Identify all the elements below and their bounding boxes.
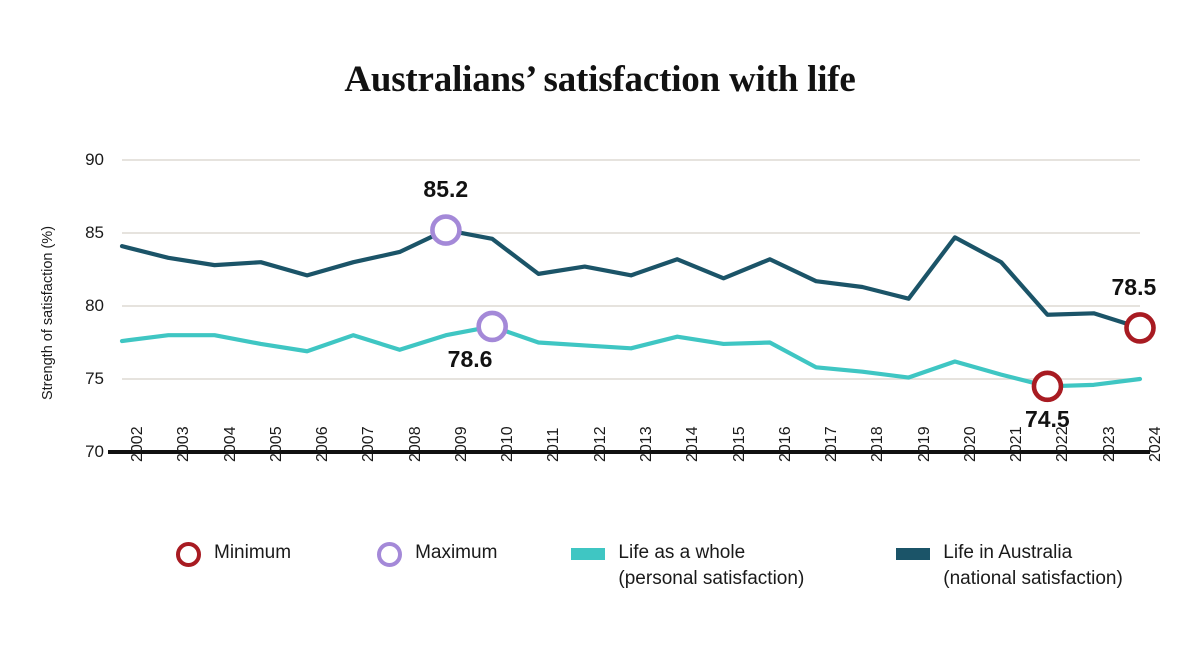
x-tick-label-2018: 2018 [870, 426, 886, 462]
maximum-marker-2009 [432, 217, 459, 244]
y-tick-label-90: 90 [64, 151, 104, 168]
x-tick-label-2019: 2019 [917, 426, 933, 462]
legend-label: Minimum [214, 540, 291, 566]
legend-line-swatch-icon [571, 548, 605, 560]
x-tick-label-2010: 2010 [500, 426, 516, 462]
maximum-marker-2010 [479, 313, 506, 340]
legend-label: Maximum [415, 540, 497, 566]
x-tick-label-2017: 2017 [824, 426, 840, 462]
x-tick-label-2007: 2007 [361, 426, 377, 462]
x-tick-label-2015: 2015 [732, 426, 748, 462]
annotation-minimum-2024: 78.5 [1112, 276, 1157, 299]
series-line-national [122, 230, 1140, 328]
x-tick-label-2020: 2020 [963, 426, 979, 462]
x-tick-label-2023: 2023 [1102, 426, 1118, 462]
legend-item-life-in-australia[interactable]: Life in Australia(national satisfaction) [896, 540, 1123, 591]
minimum-ring-icon [176, 542, 201, 567]
x-tick-label-2003: 2003 [176, 426, 192, 462]
x-tick-label-2014: 2014 [685, 426, 701, 462]
y-axis-title: Strength of satisfaction (%) [40, 203, 56, 423]
x-tick-label-2004: 2004 [223, 426, 239, 462]
legend-label-sub: (national satisfaction) [943, 566, 1123, 592]
x-tick-label-2006: 2006 [315, 426, 331, 462]
x-tick-label-2002: 2002 [130, 426, 146, 462]
series-line-personal [122, 326, 1140, 386]
legend-item-minimum[interactable]: Minimum [176, 540, 291, 567]
y-tick-label-80: 80 [64, 297, 104, 314]
x-tick-label-2009: 2009 [454, 426, 470, 462]
annotation-maximum-2010: 78.6 [448, 348, 493, 371]
x-tick-label-2021: 2021 [1009, 426, 1025, 462]
x-tick-label-2016: 2016 [778, 426, 794, 462]
x-tick-label-2024: 2024 [1148, 426, 1164, 462]
legend-label: Life as a whole(personal satisfaction) [618, 540, 804, 591]
x-tick-label-2005: 2005 [269, 426, 285, 462]
x-tick-label-2011: 2011 [546, 428, 562, 462]
minimum-marker-2022 [1034, 373, 1061, 400]
annotation-maximum-2009: 85.2 [423, 178, 468, 201]
legend-item-life-as-a-whole[interactable]: Life as a whole(personal satisfaction) [571, 540, 804, 591]
x-tick-label-2013: 2013 [639, 426, 655, 462]
chart-legend: MinimumMaximumLife as a whole(personal s… [176, 540, 1123, 591]
legend-item-maximum[interactable]: Maximum [377, 540, 497, 567]
y-tick-label-75: 75 [64, 370, 104, 387]
maximum-ring-icon [377, 542, 402, 567]
y-tick-label-70: 70 [64, 443, 104, 460]
x-tick-label-2008: 2008 [408, 426, 424, 462]
legend-line-swatch-icon [896, 548, 930, 560]
minimum-marker-2024 [1127, 314, 1154, 341]
annotation-minimum-2022: 74.5 [1025, 408, 1070, 431]
y-tick-label-85: 85 [64, 224, 104, 241]
legend-label-sub: (personal satisfaction) [618, 566, 804, 592]
x-tick-label-2012: 2012 [593, 426, 609, 462]
legend-label: Life in Australia(national satisfaction) [943, 540, 1123, 591]
